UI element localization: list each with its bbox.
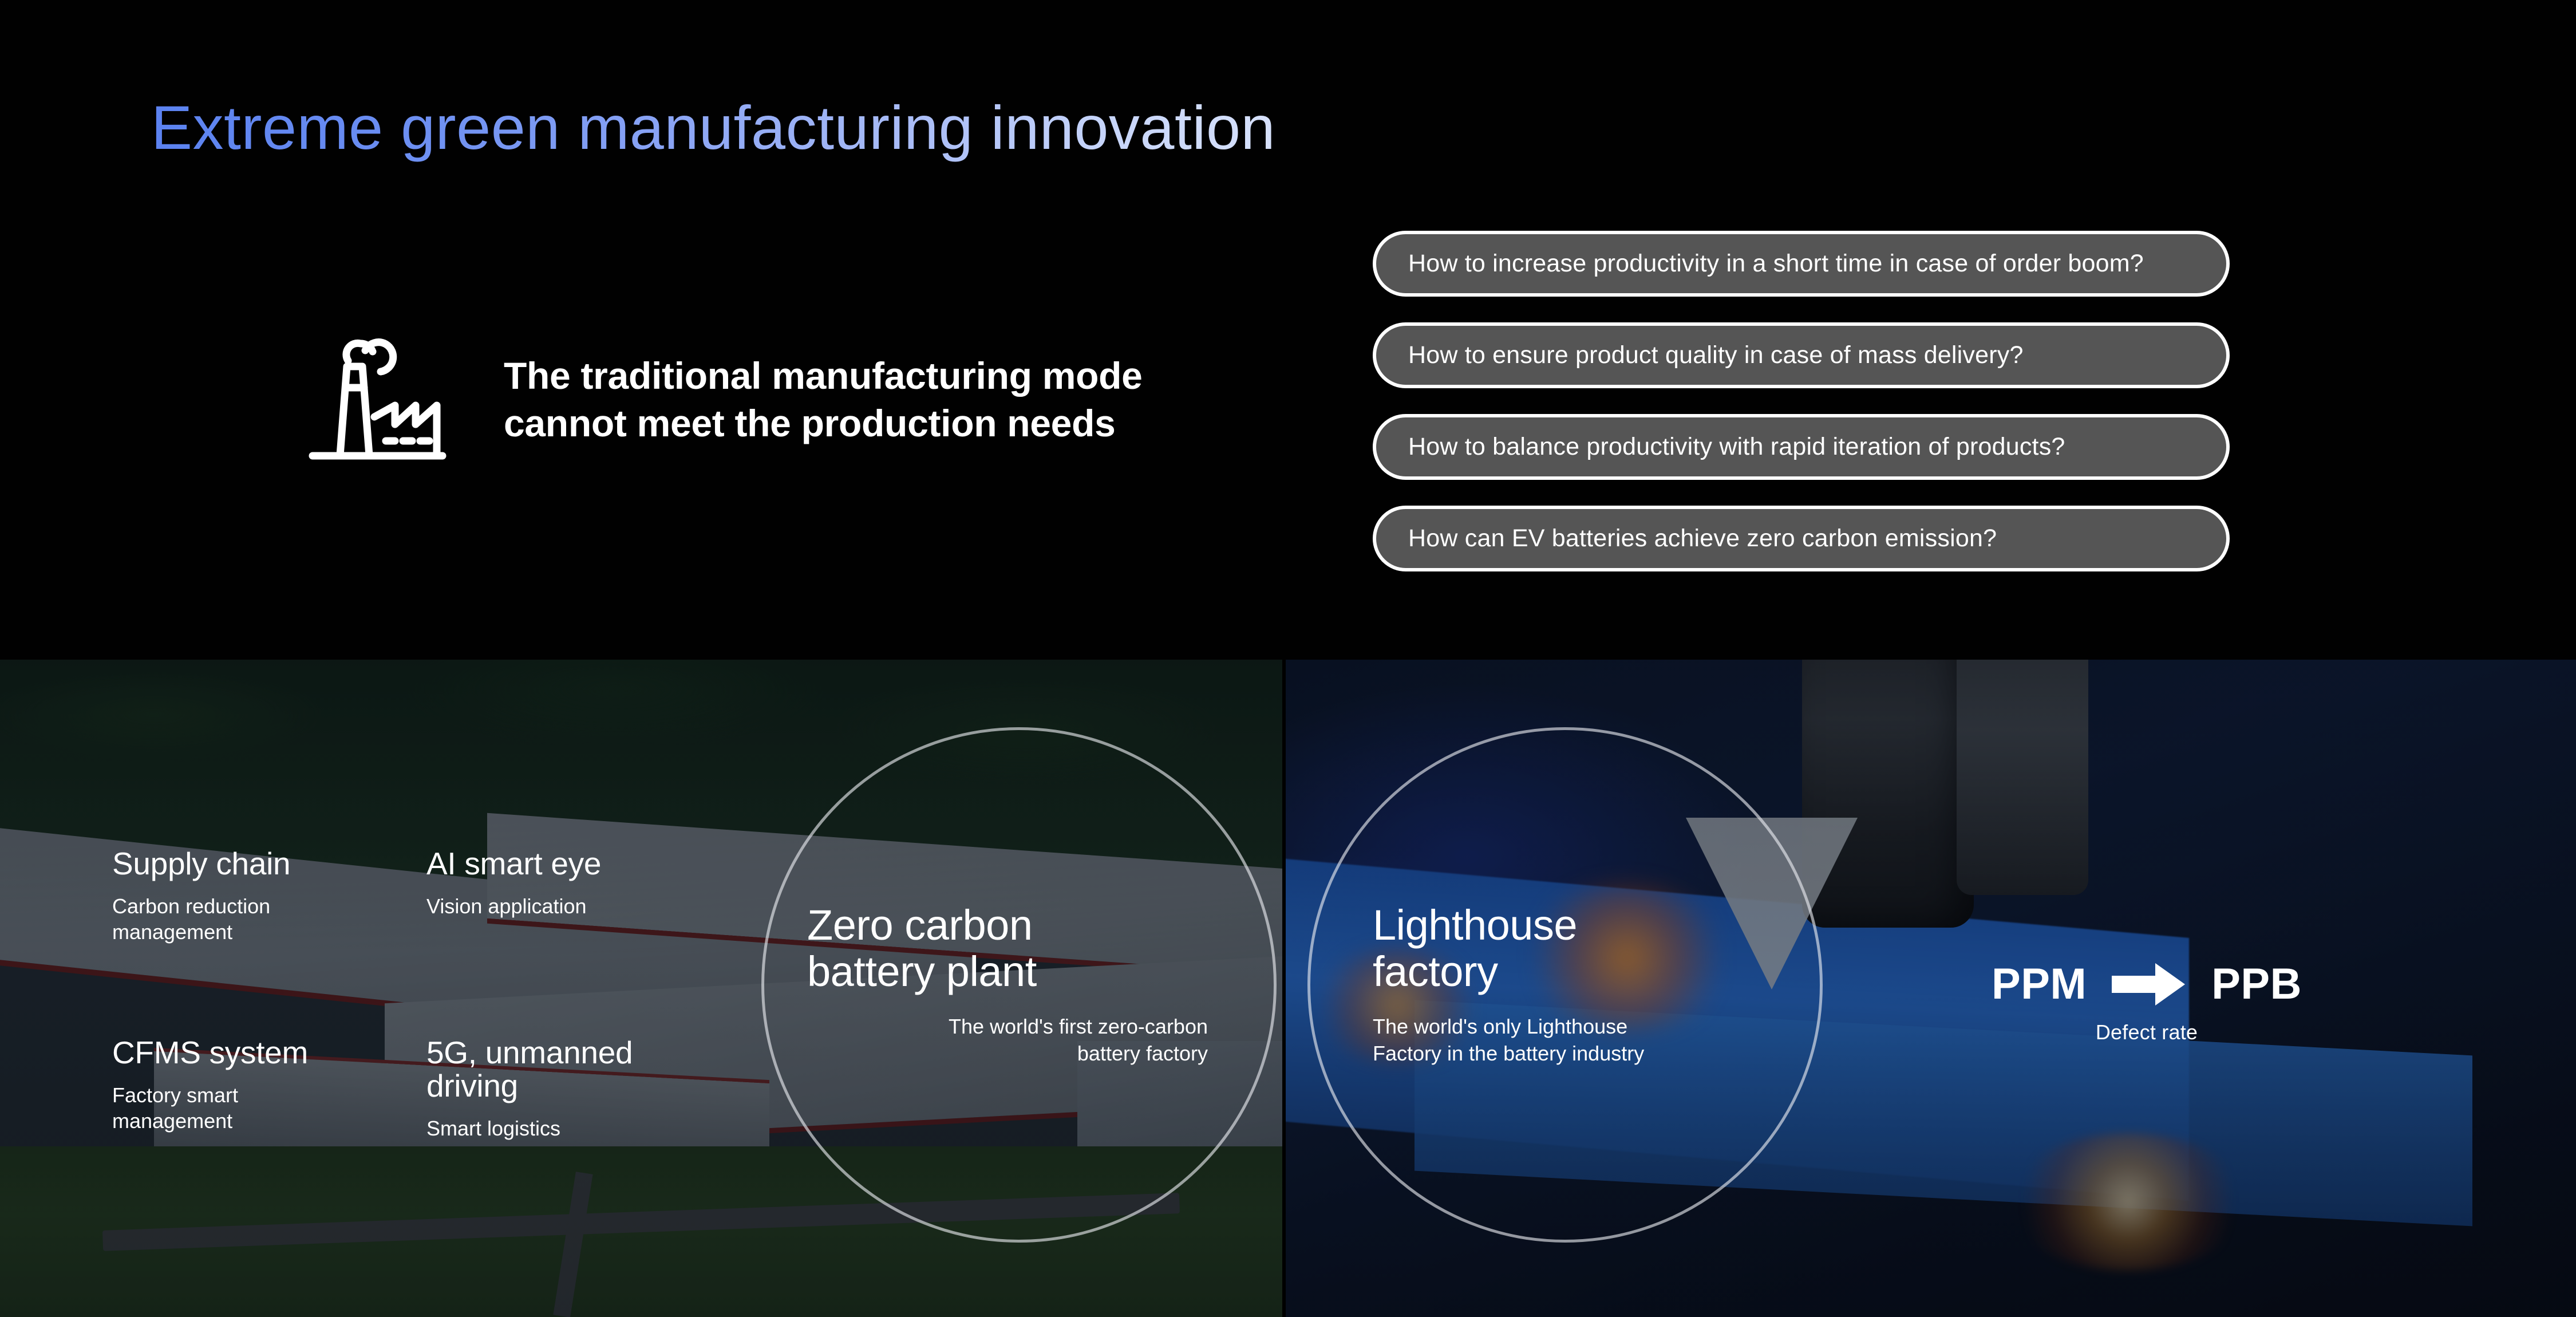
intro-headline: The traditional manufacturing mode canno…: [504, 352, 1305, 447]
metric-from-value: PPM: [1992, 959, 2087, 1009]
question-pill-label: How can EV batteries achieve zero carbon…: [1376, 525, 1997, 553]
feature-ai-smart-eye: AI smart eye Vision application: [426, 847, 601, 919]
feature-title: Supply chain: [112, 847, 290, 881]
feature-subtitle: Vision application: [426, 893, 601, 919]
slide-root: Extreme green manufacturing innovation: [0, 0, 2576, 1317]
highlight-lighthouse-factory: Lighthouse factory The world's only Ligh…: [1373, 902, 1773, 1067]
question-pill-label: How to ensure product quality in case of…: [1376, 341, 2024, 369]
feature-subtitle: Carbon reduction management: [112, 893, 290, 945]
feature-cfms-system: CFMS system Factory smart management: [112, 1036, 308, 1134]
highlight-zero-carbon-battery-plant: Zero carbon battery plant The world's fi…: [807, 902, 1208, 1067]
metric-to-value: PPB: [2211, 959, 2302, 1009]
feature-title: CFMS system: [112, 1036, 308, 1070]
feature-subtitle: Factory smart management: [112, 1082, 308, 1134]
defect-rate-metric: PPM PPB Defect rate: [1946, 959, 2347, 1044]
question-pill-label: How to increase productivity in a short …: [1376, 250, 2144, 278]
highlight-subtitle: The world's only Lighthouse Factory in t…: [1373, 1014, 1773, 1067]
feature-5g-unmanned-driving: 5G, unmanned driving Smart logistics: [426, 1036, 633, 1141]
headline-line-1: The traditional manufacturing mode: [504, 352, 1305, 400]
question-pill-2[interactable]: How to ensure product quality in case of…: [1373, 322, 2230, 388]
question-pill-3[interactable]: How to balance productivity with rapid i…: [1373, 414, 2230, 480]
question-pill-label: How to balance productivity with rapid i…: [1376, 433, 2065, 461]
metric-caption: Defect rate: [1946, 1020, 2347, 1044]
highlight-title: Lighthouse factory: [1373, 902, 1773, 995]
question-pill-list: How to increase productivity in a short …: [1373, 231, 2231, 597]
headline-line-2: cannot meet the production needs: [504, 400, 1305, 447]
feature-supply-chain: Supply chain Carbon reduction management: [112, 847, 290, 945]
factory-icon: [305, 312, 448, 464]
highlight-subtitle: The world's first zero-carbon battery fa…: [807, 1014, 1208, 1067]
question-pill-1[interactable]: How to increase productivity in a short …: [1373, 231, 2230, 297]
page-title: Extreme green manufacturing innovation: [151, 92, 1275, 163]
feature-title: AI smart eye: [426, 847, 601, 881]
feature-subtitle: Smart logistics: [426, 1115, 633, 1141]
feature-title: 5G, unmanned driving: [426, 1036, 633, 1103]
arrow-right-icon: [2112, 962, 2186, 1007]
top-section: Extreme green manufacturing innovation: [0, 0, 2576, 660]
highlight-title: Zero carbon battery plant: [807, 902, 1208, 995]
question-pill-4[interactable]: How can EV batteries achieve zero carbon…: [1373, 506, 2230, 571]
